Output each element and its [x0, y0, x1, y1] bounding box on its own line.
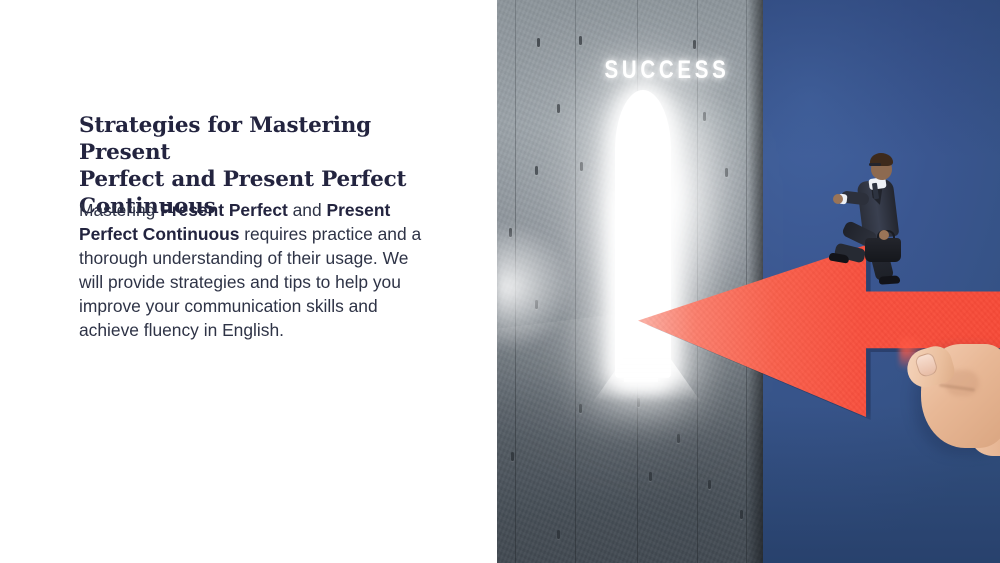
glasses-icon — [869, 163, 881, 166]
tie-hole — [557, 104, 560, 113]
tie-hole — [708, 480, 711, 489]
tie-hole — [579, 36, 582, 45]
tie-hole — [579, 404, 582, 413]
back-hand — [879, 230, 889, 240]
success-wall-text: SUCCESS — [585, 56, 749, 85]
keyhole-glow-bleed — [497, 212, 643, 362]
tie-hole — [511, 452, 514, 461]
tie-hole — [693, 40, 696, 49]
tie-hole — [725, 168, 728, 177]
tie-hole — [740, 510, 743, 519]
tie-hole — [537, 38, 540, 47]
body-segment-1: Mastering — [79, 200, 160, 220]
slide-root: Strategies for Mastering Present Perfect… — [0, 0, 1000, 563]
tie-hole — [703, 112, 706, 121]
back-shoe — [879, 275, 901, 284]
body-paragraph: Mastering Present Perfect and Present Pe… — [79, 198, 434, 342]
tie-hole — [557, 530, 560, 539]
tie-hole — [677, 434, 680, 443]
text-panel: Strategies for Mastering Present Perfect… — [0, 0, 497, 563]
businessman-figure — [827, 150, 923, 298]
front-hand — [833, 194, 843, 204]
body-segment-2: and — [288, 200, 327, 220]
tie-hole — [535, 166, 538, 175]
tie-hole — [649, 472, 652, 481]
body-bold-present-perfect: Present Perfect — [160, 200, 288, 220]
briefcase — [865, 238, 901, 262]
hero-image: SUCCESS — [497, 0, 1000, 563]
tie-hole — [580, 162, 583, 171]
hand-holding-arrow — [895, 330, 1000, 465]
